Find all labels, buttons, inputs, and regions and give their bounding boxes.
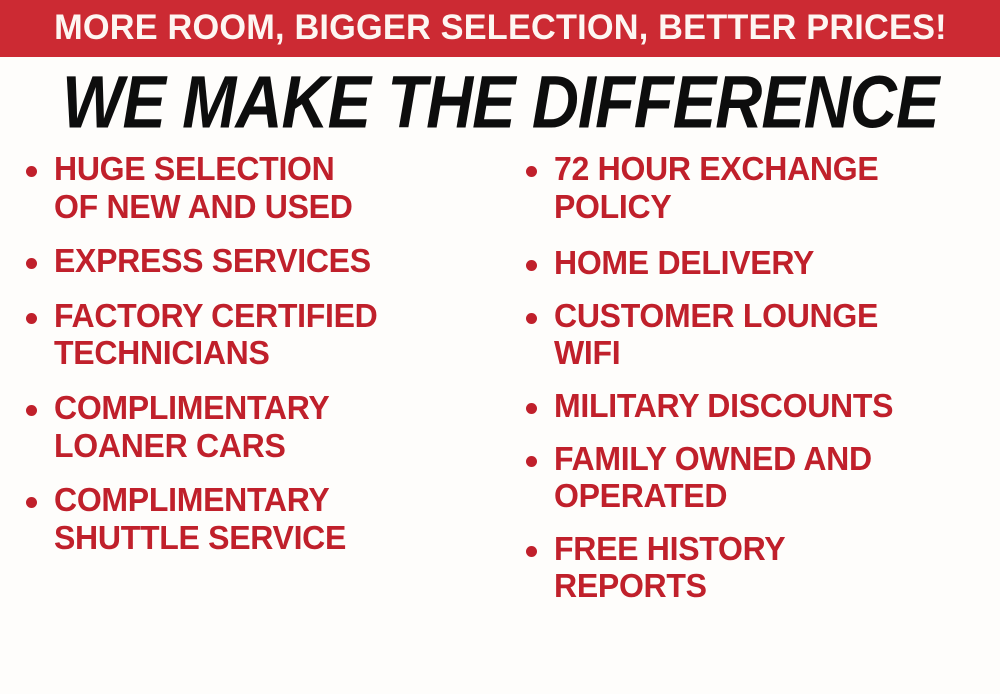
bullet-dot-icon: [526, 403, 537, 414]
benefits-column-right: 72 HOUR EXCHANGE POLICY HOME DELIVERY CU…: [514, 150, 1000, 694]
benefits-columns: HUGE SELECTION OF NEW AND USED EXPRESS S…: [0, 150, 1000, 694]
top-banner: MORE ROOM, BIGGER SELECTION, BETTER PRIC…: [0, 0, 1000, 57]
list-item-label: EXPRESS SERVICES: [54, 242, 491, 280]
bullet-dot-icon: [526, 313, 537, 324]
list-item: FREE HISTORY REPORTS: [514, 530, 1000, 605]
bullet-dot-icon: [26, 313, 37, 324]
bullet-dot-icon: [26, 166, 37, 177]
list-item: HOME DELIVERY: [514, 244, 1000, 282]
bullet-dot-icon: [26, 258, 37, 269]
list-item-label: HUGE SELECTION OF NEW AND USED: [54, 150, 491, 225]
promotional-poster: MORE ROOM, BIGGER SELECTION, BETTER PRIC…: [0, 0, 1000, 694]
bullet-dot-icon: [26, 497, 37, 508]
list-item: HUGE SELECTION OF NEW AND USED: [14, 150, 504, 225]
bullet-dot-icon: [526, 546, 537, 557]
list-item: COMPLIMENTARY SHUTTLE SERVICE: [14, 481, 504, 556]
list-item-label: CUSTOMER LOUNGE WIFI: [554, 297, 987, 372]
list-item: EXPRESS SERVICES: [14, 242, 504, 280]
list-item-label: 72 HOUR EXCHANGE POLICY: [554, 150, 987, 225]
list-item: MILITARY DISCOUNTS: [514, 387, 1000, 425]
page-title: WE MAKE THE DIFFERENCE: [62, 65, 938, 139]
list-item-label: MILITARY DISCOUNTS: [554, 387, 987, 425]
bullet-dot-icon: [526, 166, 537, 177]
list-item-label: FREE HISTORY REPORTS: [554, 530, 987, 605]
headline-container: WE MAKE THE DIFFERENCE: [0, 66, 1000, 138]
list-item: 72 HOUR EXCHANGE POLICY: [514, 150, 1000, 225]
list-item-label: COMPLIMENTARY LOANER CARS: [54, 389, 491, 464]
banner-headline-text: MORE ROOM, BIGGER SELECTION, BETTER PRIC…: [54, 10, 947, 47]
list-item-label: HOME DELIVERY: [554, 244, 987, 282]
list-item-label: FAMILY OWNED AND OPERATED: [554, 440, 987, 515]
list-item: CUSTOMER LOUNGE WIFI: [514, 297, 1000, 372]
bullet-dot-icon: [526, 456, 537, 467]
benefits-column-left: HUGE SELECTION OF NEW AND USED EXPRESS S…: [14, 150, 504, 694]
list-item: COMPLIMENTARY LOANER CARS: [14, 389, 504, 464]
list-item: FAMILY OWNED AND OPERATED: [514, 440, 1000, 515]
bullet-dot-icon: [526, 260, 537, 271]
list-item-label: COMPLIMENTARY SHUTTLE SERVICE: [54, 481, 491, 556]
list-item-label: FACTORY CERTIFIED TECHNICIANS: [54, 297, 491, 372]
list-item: FACTORY CERTIFIED TECHNICIANS: [14, 297, 504, 372]
bullet-dot-icon: [26, 405, 37, 416]
